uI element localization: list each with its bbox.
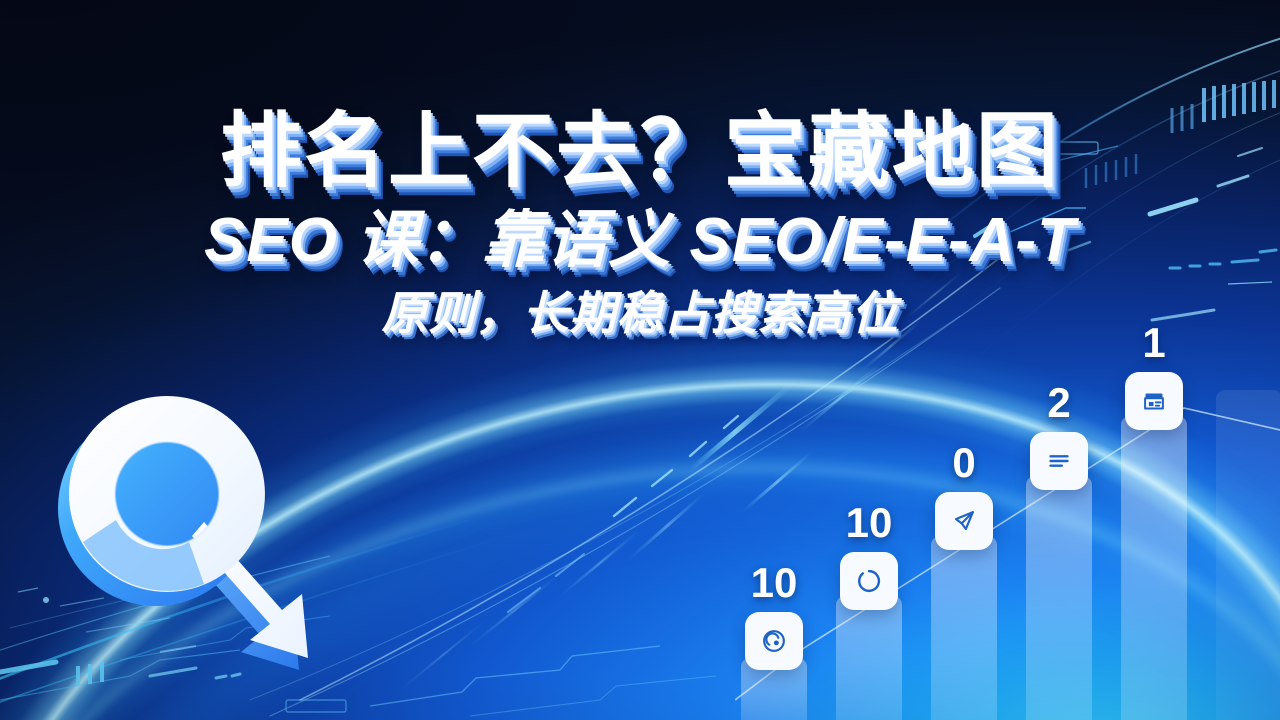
text-lines-icon [1030,432,1088,490]
chart-bar [1026,476,1092,720]
headline-line-1: 排名上不去？宝藏地图 [0,104,1280,200]
chart-bar [836,596,902,720]
trend-line [735,300,1280,720]
eye-circle-icon [745,612,803,670]
bar-value-label: 0 [931,440,997,486]
folder-files-icon [1125,372,1183,430]
ring-circle-icon [840,552,898,610]
bar-value-label: 10 [836,500,902,546]
chart-bar [1121,416,1187,720]
bar-value-label: 2 [1026,380,1092,426]
bar-value-label: 10 [741,560,807,606]
headline-line-3: 原则，长期稳占搜索高位 [0,284,1280,342]
magnifying-glass-arrow-icon [54,372,394,682]
seo-promo-poster: 排名上不去？宝藏地图 SEO 课：靠语义 SEO/E-E-A-T 原则，长期稳占… [0,0,1280,720]
paper-plane-icon [935,492,993,550]
headline-block: 排名上不去？宝藏地图 SEO 课：靠语义 SEO/E-E-A-T 原则，长期稳占… [0,104,1280,342]
headline-line-2: SEO 课：靠语义 SEO/E-E-A-T [0,204,1280,278]
chart-bar [931,536,997,720]
bar-chart: 10 10 0 2 [735,300,1280,720]
chart-bar [1216,390,1280,720]
